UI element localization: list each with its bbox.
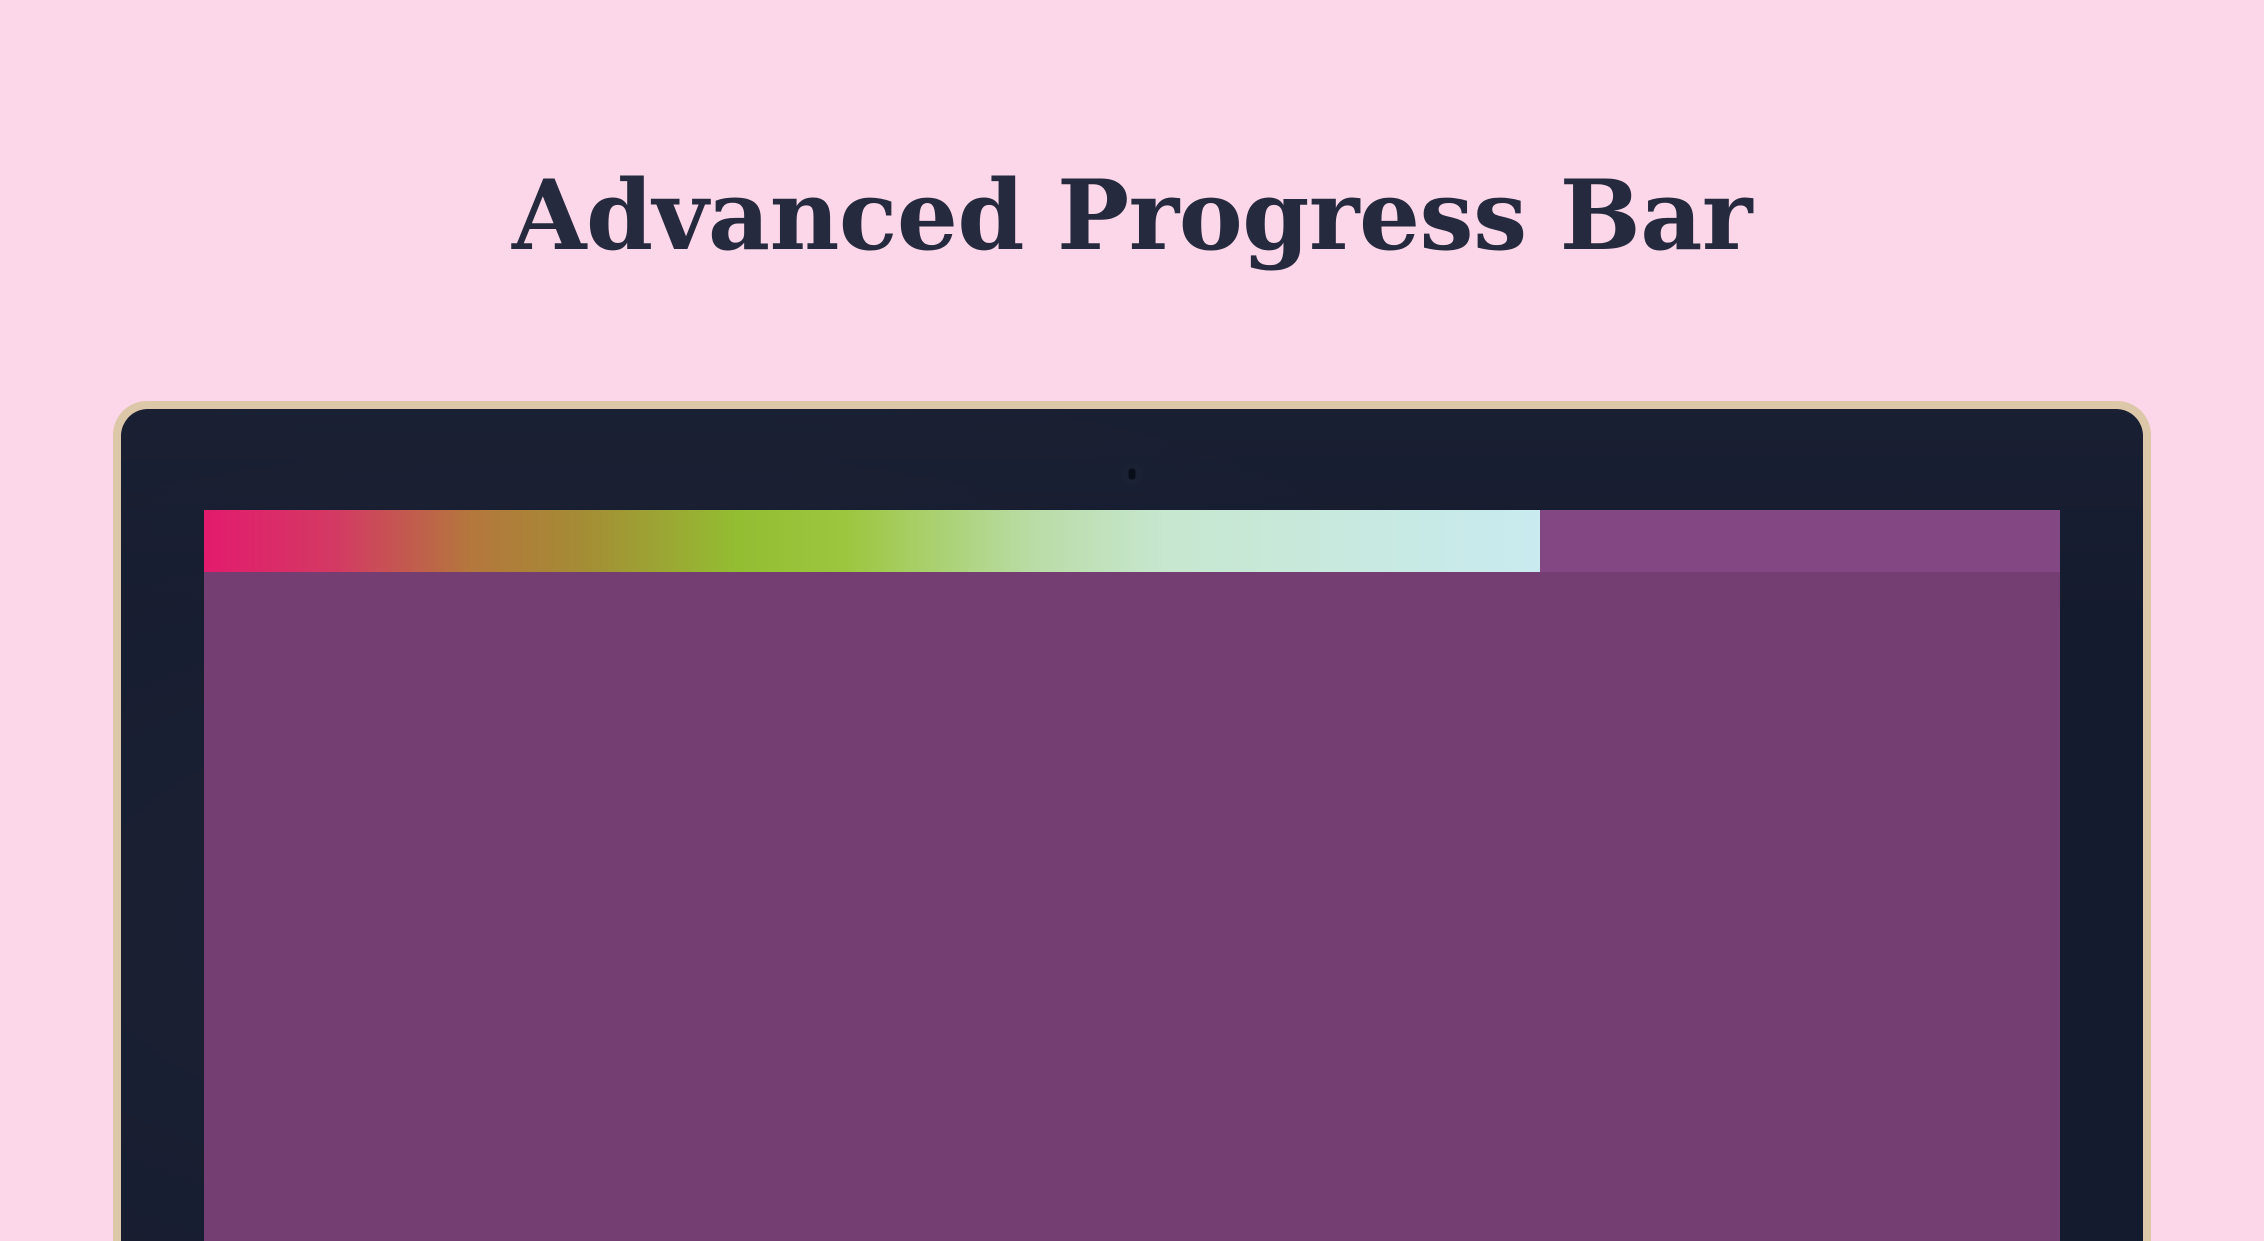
laptop-bezel	[121, 409, 2143, 1241]
progress-fill	[204, 510, 1540, 572]
screen-viewport	[204, 510, 2060, 1241]
page-root: Advanced Progress Bar	[0, 0, 2264, 1202]
screen-content-area	[204, 572, 2060, 1241]
laptop-mockup	[113, 401, 2151, 1241]
webcam-icon	[1121, 463, 1143, 485]
page-title: Advanced Progress Bar	[0, 168, 2264, 264]
progress-bar[interactable]	[204, 510, 2060, 572]
